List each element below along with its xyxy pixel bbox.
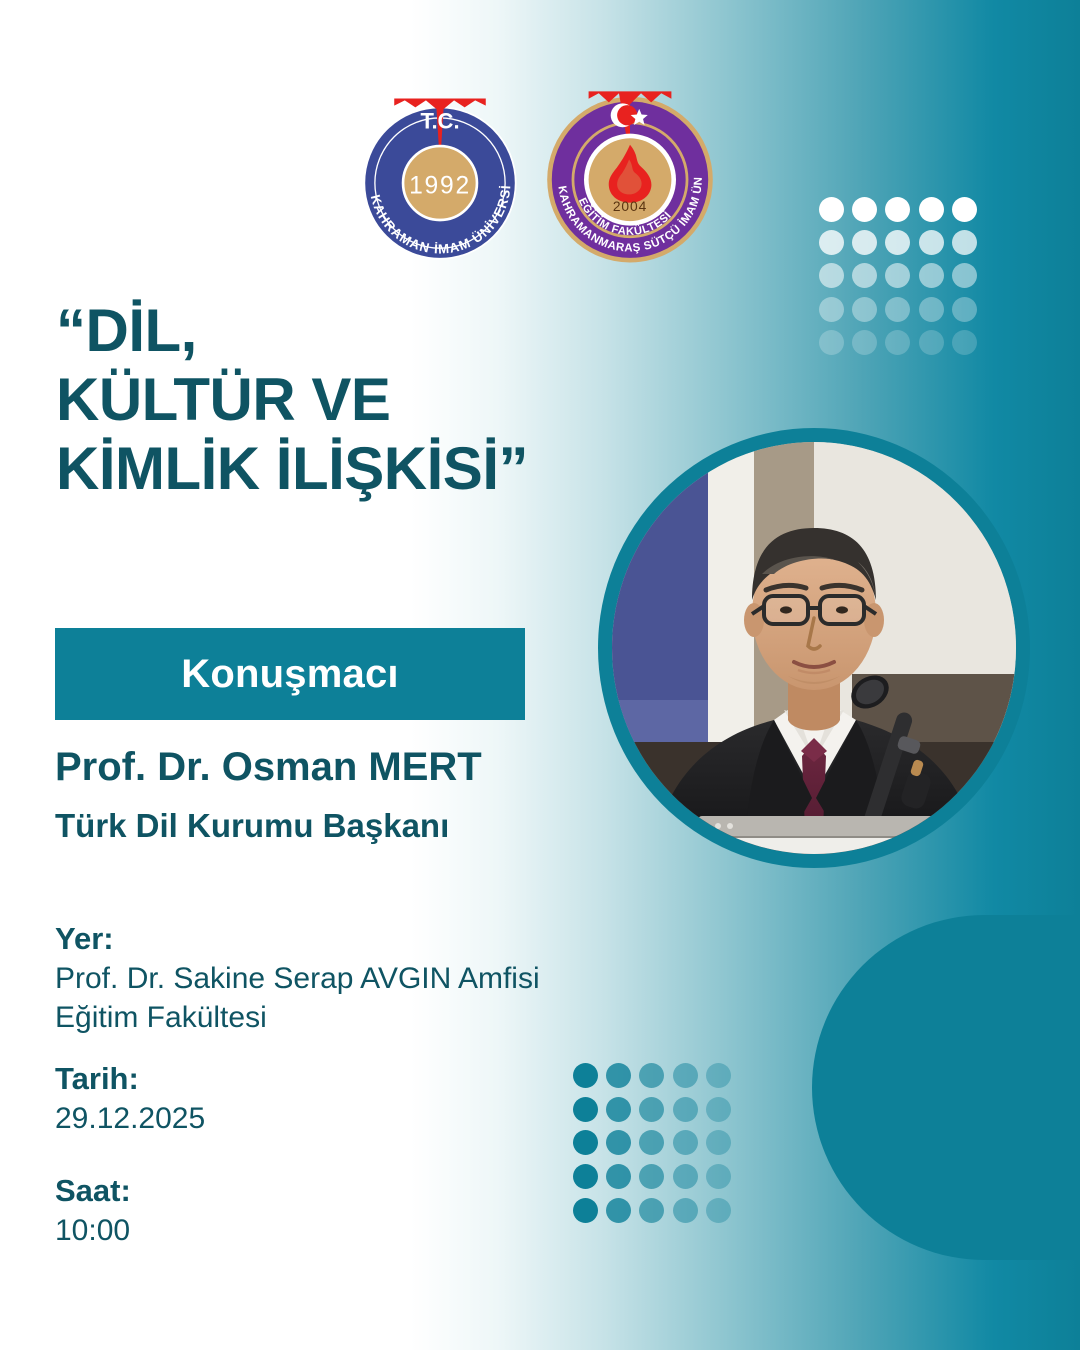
- dot: [606, 1097, 631, 1122]
- dot: [639, 1130, 664, 1155]
- dot: [885, 263, 910, 288]
- dot: [952, 330, 977, 355]
- speaker-name: Prof. Dr. Osman MERT: [55, 745, 482, 790]
- dot: [639, 1063, 664, 1088]
- dot: [852, 297, 877, 322]
- title-line-3: KİMLİK İLİŞKİSİ”: [56, 434, 616, 503]
- speaker-banner: Konuşmacı: [55, 628, 525, 720]
- dot: [852, 263, 877, 288]
- dot: [606, 1130, 631, 1155]
- dot: [573, 1063, 598, 1088]
- place-line-2: Eğitim Fakültesi: [55, 998, 540, 1037]
- svg-text:2004: 2004: [613, 199, 647, 214]
- dot: [885, 197, 910, 222]
- dot: [673, 1164, 698, 1189]
- dot: [952, 297, 977, 322]
- speaker-banner-label: Konuşmacı: [181, 652, 398, 697]
- dot: [673, 1198, 698, 1223]
- dot: [819, 330, 844, 355]
- dot: [952, 230, 977, 255]
- dot: [706, 1097, 731, 1122]
- place-label: Yer:: [55, 920, 540, 959]
- dot: [919, 297, 944, 322]
- dot: [673, 1130, 698, 1155]
- dot: [952, 263, 977, 288]
- dot: [573, 1164, 598, 1189]
- dot: [606, 1164, 631, 1189]
- date-value: 29.12.2025: [55, 1099, 205, 1138]
- dot-grid-bottom: [572, 1062, 732, 1224]
- dot: [819, 263, 844, 288]
- event-poster: T.C. 1992 KAHRAMAN İMAM ÜNİVERSİTESİ: [0, 0, 1080, 1350]
- dot: [819, 197, 844, 222]
- dot: [606, 1198, 631, 1223]
- title-line-2: KÜLTÜR VE: [56, 365, 616, 434]
- dot: [706, 1063, 731, 1088]
- dot: [639, 1097, 664, 1122]
- dot: [919, 263, 944, 288]
- time-label: Saat:: [55, 1172, 131, 1211]
- dot: [706, 1164, 731, 1189]
- dot: [819, 230, 844, 255]
- dot: [852, 197, 877, 222]
- detail-time: Saat: 10:00: [55, 1172, 131, 1250]
- title-line-1: “DİL,: [56, 296, 616, 365]
- speaker-role: Türk Dil Kurumu Başkanı: [55, 807, 449, 845]
- dot: [639, 1198, 664, 1223]
- dot: [952, 197, 977, 222]
- portrait-photo: [612, 442, 1016, 854]
- dot: [885, 297, 910, 322]
- dot: [573, 1130, 598, 1155]
- dot: [919, 197, 944, 222]
- svg-text:T.C.: T.C.: [420, 108, 459, 133]
- dot: [606, 1063, 631, 1088]
- svg-text:1992: 1992: [409, 173, 471, 200]
- dot: [852, 230, 877, 255]
- dot: [673, 1097, 698, 1122]
- egitim-fakultesi-logo: 2004 KAHRAMANMARAŞ SÜTÇÜ İMAM ÜNİVERSİTE…: [538, 84, 722, 268]
- dot: [673, 1063, 698, 1088]
- page-title: “DİL, KÜLTÜR VE KİMLİK İLİŞKİSİ”: [56, 296, 616, 503]
- dot: [885, 230, 910, 255]
- dot: [573, 1097, 598, 1122]
- dot: [639, 1164, 664, 1189]
- dot: [852, 330, 877, 355]
- date-label: Tarih:: [55, 1060, 205, 1099]
- ksu-logo: T.C. 1992 KAHRAMAN İMAM ÜNİVERSİTESİ: [352, 88, 528, 264]
- speaker-portrait: [598, 428, 1030, 868]
- place-line-1: Prof. Dr. Sakine Serap AVGIN Amfisi: [55, 959, 540, 998]
- dot: [919, 330, 944, 355]
- dot: [919, 230, 944, 255]
- detail-date: Tarih: 29.12.2025: [55, 1060, 205, 1138]
- dot: [885, 330, 910, 355]
- dot: [706, 1130, 731, 1155]
- detail-place: Yer: Prof. Dr. Sakine Serap AVGIN Amfisi…: [55, 920, 540, 1037]
- dot: [573, 1198, 598, 1223]
- dot: [706, 1198, 731, 1223]
- time-value: 10:00: [55, 1211, 131, 1250]
- dot-grid-top: [818, 196, 978, 356]
- logo-row: T.C. 1992 KAHRAMAN İMAM ÜNİVERSİTESİ: [352, 78, 724, 274]
- dot: [819, 297, 844, 322]
